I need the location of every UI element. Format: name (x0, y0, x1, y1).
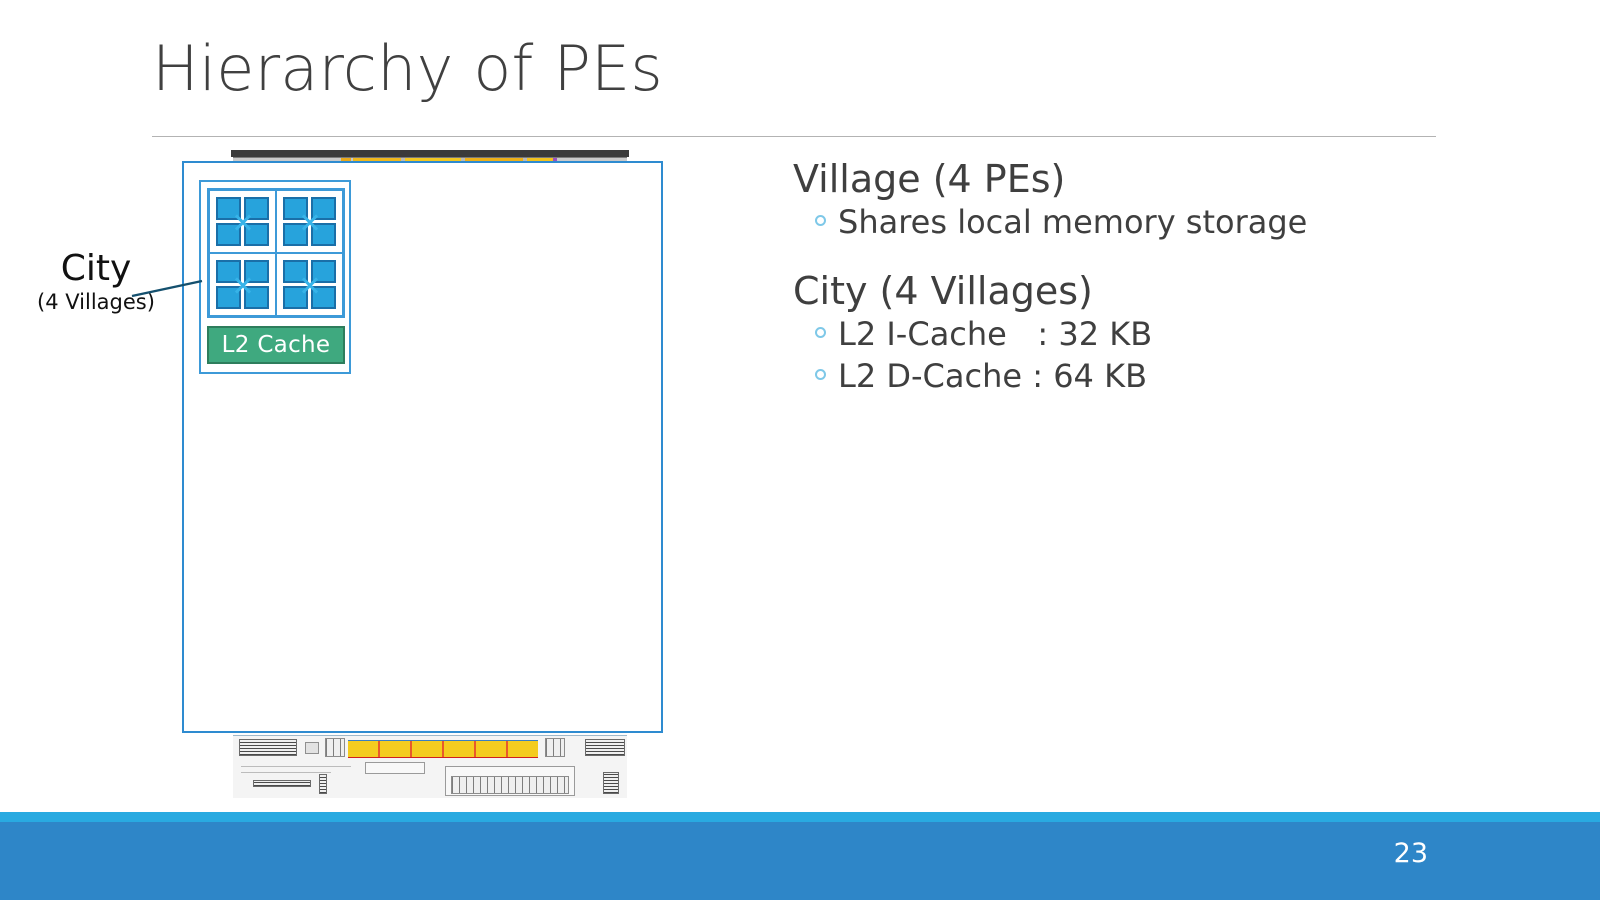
footer-accent-bar (0, 812, 1600, 822)
bullet-city-1: L2 D-Cache : 64 KB (815, 356, 1493, 398)
bullet-city-0: L2 I-Cache : 32 KB (815, 314, 1493, 356)
pe-node (216, 197, 241, 220)
bullet-circle-icon (815, 369, 826, 380)
die-hatch-block-left (239, 739, 297, 756)
die-bottom-block-strip (348, 740, 538, 758)
die-small-block-a (305, 742, 319, 754)
page-title: Hierarchy of PEs (152, 38, 663, 100)
pe-node (244, 197, 269, 220)
bullet-text: L2 D-Cache : 64 KB (838, 356, 1147, 398)
die-bottom-area (233, 735, 627, 798)
bullet-village-0: Shares local memory storage (815, 202, 1493, 244)
village-3 (209, 253, 276, 316)
die-hatch-block-far-right (603, 772, 619, 794)
pe-node (244, 223, 269, 246)
bullet-text: Shares local memory storage (838, 202, 1307, 244)
die-tick-block-c (451, 776, 569, 794)
content-column: Village (4 PEs) Shares local memory stor… (793, 157, 1493, 397)
village-2 (276, 190, 343, 253)
city-diagram: L2 Cache (199, 180, 351, 374)
pe-node (244, 260, 269, 283)
die-rule-b (241, 772, 331, 773)
bullet-text: L2 I-Cache : 32 KB (838, 314, 1152, 356)
village-grid (207, 188, 345, 318)
pe-node (311, 223, 336, 246)
pe-node (216, 260, 241, 283)
die-hatch-block-right (585, 739, 625, 756)
die-tick-block-a (325, 738, 345, 757)
pe-node (244, 286, 269, 309)
die-tick-block-b (545, 738, 565, 757)
die-hatch-block-tall (319, 774, 327, 794)
l2-cache-block: L2 Cache (207, 326, 345, 364)
pe-node (283, 197, 308, 220)
pe-node (216, 223, 241, 246)
title-divider (152, 136, 1436, 137)
pe-node (283, 286, 308, 309)
village-4 (276, 253, 343, 316)
bullet-circle-icon (815, 327, 826, 338)
pe-node (311, 260, 336, 283)
die-outline-box-a (365, 762, 425, 774)
page-number: 23 (0, 838, 1600, 869)
die-rule-a (241, 766, 351, 767)
city-leader-line (130, 278, 204, 298)
pe-node (311, 286, 336, 309)
die-hatch-block-mid (253, 780, 311, 787)
section-spacer (793, 243, 1493, 269)
pe-node (283, 260, 308, 283)
pe-node (311, 197, 336, 220)
pe-node (283, 223, 308, 246)
pe-node (216, 286, 241, 309)
bullet-circle-icon (815, 215, 826, 226)
die-top-bar (231, 150, 629, 157)
section-heading-village: Village (4 PEs) (793, 157, 1493, 202)
section-heading-city: City (4 Villages) (793, 269, 1493, 314)
village-1 (209, 190, 276, 253)
